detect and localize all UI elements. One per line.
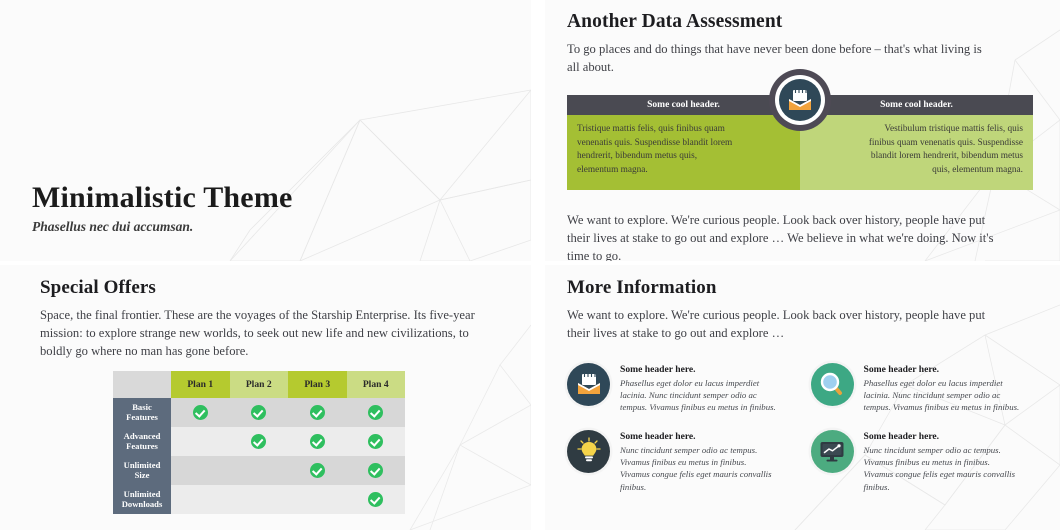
- callout-body-left: Tristique mattis felis, quis finibus qua…: [567, 115, 800, 190]
- pricing-cell-checked: [230, 427, 289, 456]
- pricing-cell-checked: [347, 398, 406, 427]
- pricing-row-label: Advanced Features: [113, 427, 171, 456]
- offers-panel: Special Offers Space, the final frontier…: [0, 265, 531, 530]
- check-circle-icon: [368, 405, 383, 420]
- pricing-cell-checked: [171, 398, 230, 427]
- pricing-cell-checked: [288, 456, 347, 485]
- monitor-chart-icon: [811, 430, 854, 473]
- pricing-cell-empty: [171, 485, 230, 514]
- pricing-row-label: Basic Features: [113, 398, 171, 427]
- more-info-lead: We want to explore. We're curious people…: [567, 307, 987, 343]
- pricing-table-header-row: Plan 1 Plan 2 Plan 3 Plan 4: [113, 371, 405, 398]
- pricing-table-row: Basic Features: [113, 398, 405, 427]
- feature-header: Some header here.: [620, 431, 776, 442]
- check-circle-icon: [310, 463, 325, 478]
- check-circle-icon: [193, 405, 208, 420]
- feature-item: Some header here.Phasellus eget dolor eu…: [811, 363, 1041, 414]
- feature-body: Nunc tincidunt semper odio ac tempus. Vi…: [864, 444, 1020, 493]
- pricing-table-row: Unlimited Downloads: [113, 485, 405, 514]
- open-book-icon: [769, 69, 831, 131]
- assessment-panel: Another Data Assessment To go places and…: [545, 0, 1060, 261]
- pricing-cell-checked: [288, 427, 347, 456]
- pricing-cell-checked: [288, 398, 347, 427]
- check-circle-icon: [251, 434, 266, 449]
- slide-grid: Minimalistic Theme Phasellus nec dui acc…: [0, 0, 1060, 530]
- feature-body: Phasellus eget dolor eu lacus imperdiet …: [620, 377, 776, 414]
- callout-header-left: Some cool header.: [567, 95, 800, 115]
- magnifier-icon: [811, 363, 854, 406]
- plan-header-1: Plan 1: [171, 371, 230, 398]
- lightbulb-icon: [567, 430, 610, 473]
- feature-body: Nunc tincidunt semper odio ac tempus. Vi…: [620, 444, 776, 493]
- pricing-table-corner: [113, 371, 171, 398]
- offers-lead: Space, the final frontier. These are the…: [40, 307, 495, 361]
- assessment-lead: To go places and do things that have nev…: [567, 41, 997, 77]
- more-info-panel: More Information We want to explore. We'…: [545, 265, 1060, 530]
- feature-grid: Some header here.Phasellus eget dolor eu…: [567, 363, 1040, 493]
- feature-header: Some header here.: [620, 364, 776, 375]
- plan-header-3: Plan 3: [288, 371, 347, 398]
- feature-text: Some header here.Phasellus eget dolor eu…: [620, 363, 776, 414]
- plan-header-4: Plan 4: [347, 371, 406, 398]
- pricing-cell-checked: [347, 427, 406, 456]
- pricing-table-row: Advanced Features: [113, 427, 405, 456]
- title-panel: Minimalistic Theme Phasellus nec dui acc…: [0, 0, 531, 261]
- check-circle-icon: [368, 463, 383, 478]
- feature-text: Some header here.Nunc tincidunt semper o…: [864, 430, 1020, 493]
- pricing-row-label: Unlimited Size: [113, 456, 171, 485]
- feature-item: Some header here.Nunc tincidunt semper o…: [811, 430, 1041, 493]
- pricing-cell-empty: [171, 427, 230, 456]
- page-subtitle: Phasellus nec dui accumsan.: [32, 219, 293, 235]
- pricing-table: Plan 1 Plan 2 Plan 3 Plan 4 Basic Featur…: [113, 371, 405, 514]
- pricing-cell-checked: [347, 456, 406, 485]
- hero-block: Minimalistic Theme Phasellus nec dui acc…: [32, 181, 293, 235]
- check-circle-icon: [368, 492, 383, 507]
- feature-header: Some header here.: [864, 364, 1020, 375]
- pricing-table-row: Unlimited Size: [113, 456, 405, 485]
- page-title: Minimalistic Theme: [32, 181, 293, 215]
- pricing-table-body: Basic FeaturesAdvanced FeaturesUnlimited…: [113, 398, 405, 514]
- feature-body: Phasellus eget dolor eu lacus imperdiet …: [864, 377, 1020, 414]
- assessment-tail-text: We want to explore. We're curious people…: [567, 212, 999, 261]
- pricing-cell-empty: [230, 485, 289, 514]
- pricing-cell-empty: [288, 485, 347, 514]
- feature-item: Some header here.Phasellus eget dolor eu…: [567, 363, 797, 414]
- check-circle-icon: [368, 434, 383, 449]
- two-column-callout: Some cool header. Some cool header. Tris…: [567, 95, 1033, 190]
- feature-header: Some header here.: [864, 431, 1020, 442]
- offers-heading: Special Offers: [40, 277, 501, 299]
- check-circle-icon: [251, 405, 266, 420]
- more-info-heading: More Information: [567, 277, 1040, 299]
- assessment-heading: Another Data Assessment: [567, 11, 1038, 33]
- feature-text: Some header here.Phasellus eget dolor eu…: [864, 363, 1020, 414]
- plan-header-2: Plan 2: [230, 371, 289, 398]
- callout-header-right: Some cool header.: [800, 95, 1033, 115]
- pricing-row-label: Unlimited Downloads: [113, 485, 171, 514]
- feature-text: Some header here.Nunc tincidunt semper o…: [620, 430, 776, 493]
- check-circle-icon: [310, 434, 325, 449]
- envelope-icon: [567, 363, 610, 406]
- pricing-cell-empty: [230, 456, 289, 485]
- callout-body-right: Vestibulum tristique mattis felis, quis …: [800, 115, 1033, 190]
- feature-item: Some header here.Nunc tincidunt semper o…: [567, 430, 797, 493]
- open-book-glyph: [785, 85, 815, 115]
- pricing-cell-checked: [347, 485, 406, 514]
- check-circle-icon: [310, 405, 325, 420]
- pricing-cell-checked: [230, 398, 289, 427]
- pricing-cell-empty: [171, 456, 230, 485]
